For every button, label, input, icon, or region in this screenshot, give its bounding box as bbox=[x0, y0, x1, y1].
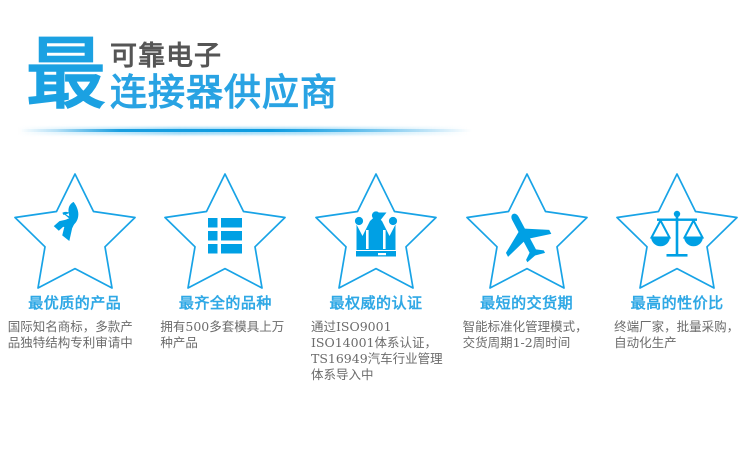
feature-item: 最权威的认证 通过ISO9001 ISO14001体系认证，TS16949汽车行… bbox=[301, 168, 451, 383]
star-outline-icon bbox=[613, 168, 741, 290]
feature-description: 国际知名商标，多款产品独特结构专利审请中 bbox=[6, 319, 144, 351]
feature-description: 通过ISO9001 ISO14001体系认证，TS16949汽车行业管理体系导入… bbox=[305, 319, 447, 383]
star-badge bbox=[161, 168, 289, 290]
feature-title: 最高的性价比 bbox=[631, 294, 724, 312]
feature-item: 最齐全的品种 拥有500多套模具上万种产品 bbox=[151, 168, 301, 383]
banner-emphasis-character: 最 bbox=[26, 36, 106, 114]
star-badge bbox=[463, 168, 591, 290]
star-badge bbox=[11, 168, 139, 290]
feature-list: 最优质的产品 国际知名商标，多款产品独特结构专利审请中 最齐全的品种 拥有500… bbox=[0, 168, 752, 383]
feature-item: 最短的交货期 智能标准化管理模式，交货周期1-2周时间 bbox=[452, 168, 602, 383]
banner-subtitle: 可靠电子 bbox=[110, 41, 338, 72]
feature-title: 最优质的产品 bbox=[28, 294, 121, 312]
banner-divider bbox=[0, 126, 752, 136]
banner-lines: 可靠电子 连接器供应商 bbox=[110, 41, 338, 114]
feature-description: 拥有500多套模具上万种产品 bbox=[154, 319, 296, 351]
feature-item: 最优质的产品 国际知名商标，多款产品独特结构专利审请中 bbox=[0, 168, 150, 383]
star-badge bbox=[613, 168, 741, 290]
banner-text-group: 最 可靠电子 连接器供应商 bbox=[26, 36, 338, 114]
star-outline-icon bbox=[312, 168, 440, 290]
feature-description: 终端厂家，批量采购，自动化生产 bbox=[604, 319, 750, 351]
banner-title: 连接器供应商 bbox=[110, 72, 338, 113]
list-grid-icon bbox=[208, 218, 242, 254]
balance-scale-icon bbox=[651, 211, 703, 257]
crown-icon bbox=[355, 211, 397, 256]
star-outline-icon bbox=[463, 168, 591, 290]
divider-line bbox=[20, 129, 472, 132]
feature-title: 最权威的认证 bbox=[329, 294, 422, 312]
feature-item: 最高的性价比 终端厂家，批量采购，自动化生产 bbox=[602, 168, 752, 383]
star-outline-icon bbox=[11, 168, 139, 290]
feature-description: 智能标准化管理模式，交货周期1-2周时间 bbox=[455, 319, 599, 351]
star-outline-icon bbox=[161, 168, 289, 290]
feature-title: 最短的交货期 bbox=[480, 294, 573, 312]
feature-title: 最齐全的品种 bbox=[179, 294, 272, 312]
star-badge bbox=[312, 168, 440, 290]
